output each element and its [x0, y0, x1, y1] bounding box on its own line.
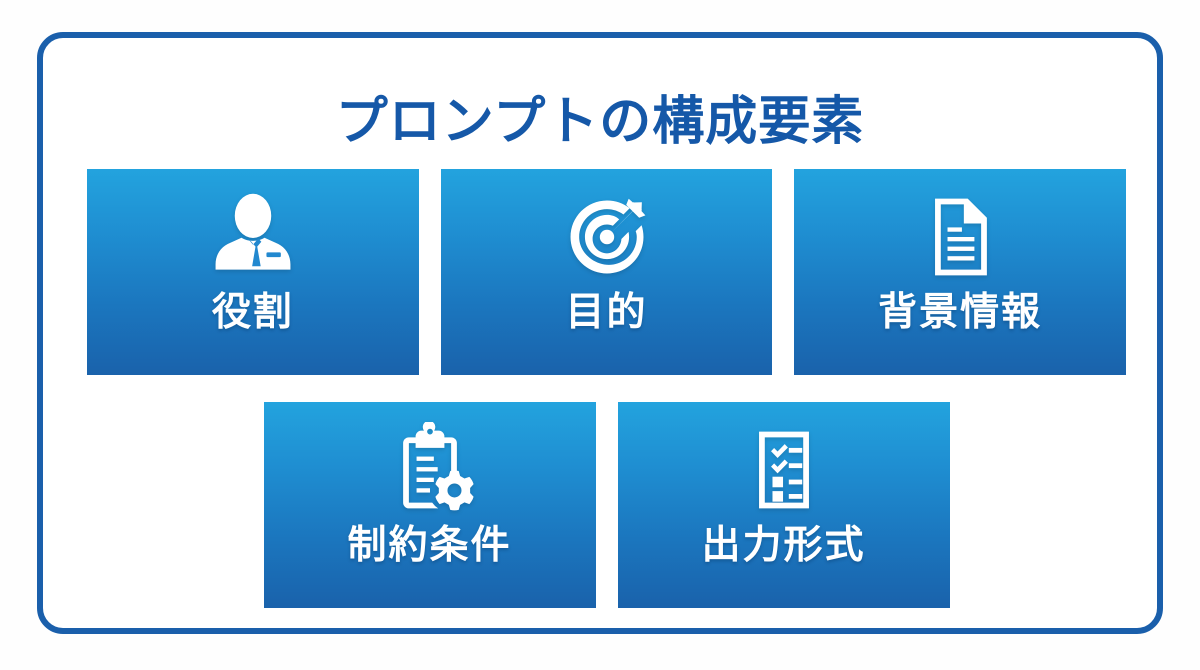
card-role[interactable]: 役割 [87, 169, 419, 375]
card-purpose[interactable]: 目的 [441, 169, 773, 375]
card-label: 背景情報 [878, 293, 1042, 332]
card-label: 出力形式 [701, 526, 865, 565]
card-grid: 役割 目的 [87, 169, 1126, 608]
page-title: プロンプトの構成要素 [43, 96, 1157, 148]
card-label: 制約条件 [347, 526, 511, 565]
card-row-2: 制約条件 [87, 402, 1126, 608]
card-label: 役割 [212, 293, 294, 332]
slide-canvas: プロンプトの構成要素 役割 [0, 0, 1200, 670]
card-constraints[interactable]: 制約条件 [264, 402, 596, 608]
content-frame: プロンプトの構成要素 役割 [37, 32, 1163, 634]
target-arrow-icon [559, 189, 655, 285]
document-icon [912, 189, 1008, 285]
checklist-icon [736, 422, 832, 518]
card-background-info[interactable]: 背景情報 [794, 169, 1126, 375]
businessman-icon [205, 189, 301, 285]
card-label: 目的 [566, 293, 648, 332]
card-output-format[interactable]: 出力形式 [618, 402, 950, 608]
clipboard-gear-icon [382, 422, 478, 518]
card-row-1: 役割 目的 [87, 169, 1126, 375]
